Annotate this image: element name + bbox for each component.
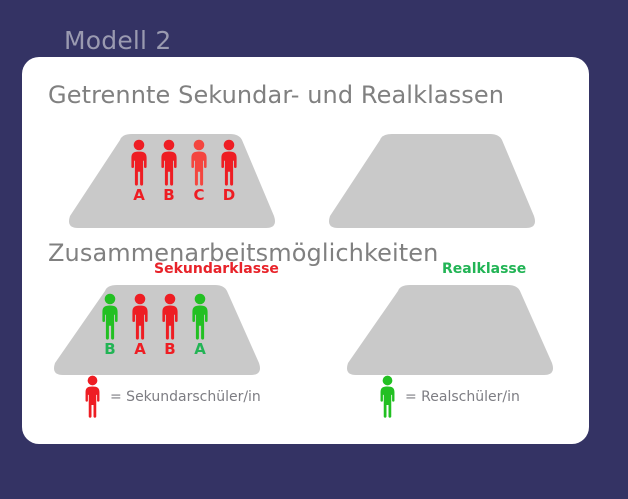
person-label: B [164,342,175,358]
person-cell: A [189,293,211,358]
person-label: B [163,188,174,204]
slide-canvas: Modell 2 Getrennte Sekundar- und Realkla… [0,0,628,499]
person-icon [377,375,398,419]
legend-label: = Sekundarschüler/in [110,389,261,405]
person-icon [159,293,181,341]
person-cell: A [128,139,150,204]
person-icon [82,375,103,419]
legend-label: = Realschüler/in [405,389,520,405]
trapezoid-shape [340,285,560,377]
person-cell: C [188,139,210,204]
person-icon [218,139,240,187]
person-icon [158,139,180,187]
person-label: C [193,188,204,204]
platform-realklasse: A B C [322,134,542,230]
legend-item-sekundarschueler: = Sekundarschüler/in [82,375,261,419]
person-cell: A [129,293,151,358]
person-cell: B [99,293,121,358]
person-icon [129,293,151,341]
content-card: Getrennte Sekundar- und Realklassen A [22,57,589,444]
trapezoid-shape [322,134,542,230]
person-icon [188,139,210,187]
slide-title: Modell 2 [64,26,171,55]
platform-collaboration-right: C B C [340,285,560,377]
person-label: A [194,342,206,358]
person-label: A [134,342,146,358]
people-row-sekundarklasse: A B C [128,139,240,204]
legend-item-realschueler: = Realschüler/in [377,375,520,419]
section-heading-separate-classes: Getrennte Sekundar- und Realklassen [48,81,504,109]
person-icon [99,293,121,341]
platform-collaboration-left: B A B [47,285,267,377]
person-cell: B [159,293,181,358]
person-icon [128,139,150,187]
person-label: B [104,342,115,358]
person-cell: B [158,139,180,204]
platform-caption-realklasse: Realklasse [442,261,526,277]
person-label: D [223,188,235,204]
platform-sekundarklasse: A B C [62,134,282,230]
person-label: A [133,188,145,204]
person-icon [189,293,211,341]
section-heading-collaboration: Zusammenarbeitsmöglichkeiten [48,239,438,267]
people-row-collaboration-left: B A B [99,293,211,358]
person-cell: D [218,139,240,204]
